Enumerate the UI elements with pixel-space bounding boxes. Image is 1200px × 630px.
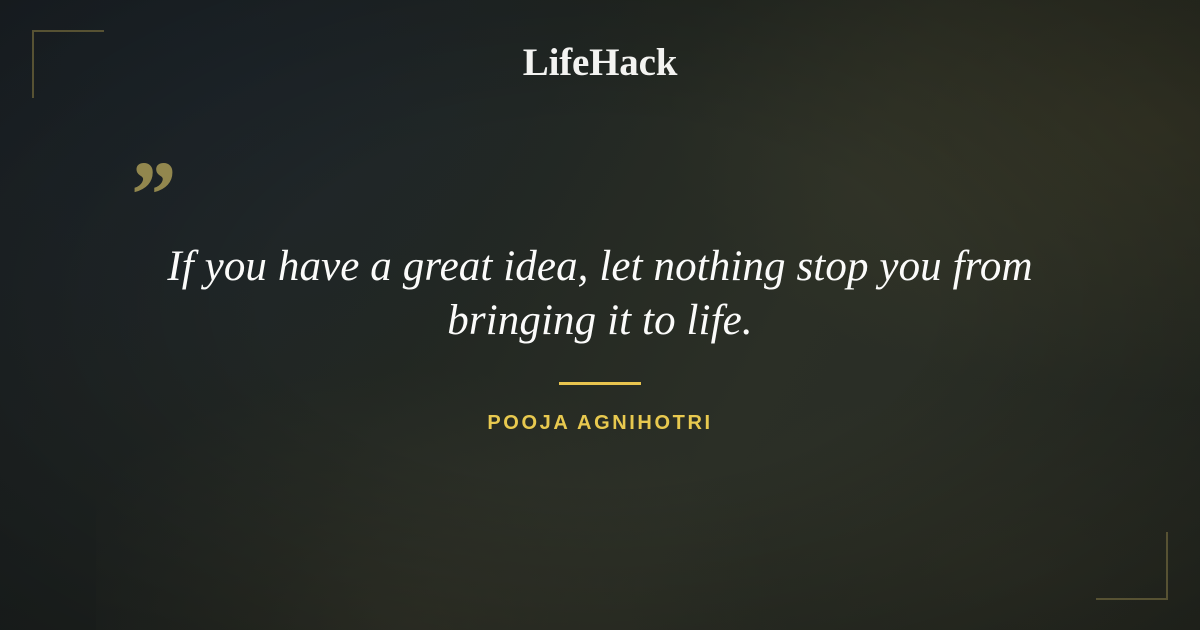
quote-card: LifeHack ” If you have a great idea, let… xyxy=(0,0,1200,630)
lifehack-logo: LifeHack xyxy=(0,40,1200,85)
attribution-block: POOJA AGNIHOTRI xyxy=(0,382,1200,435)
gold-divider xyxy=(559,382,641,385)
quotation-mark-icon: ” xyxy=(126,147,174,243)
quote-text: If you have a great idea, let nothing st… xyxy=(95,240,1105,348)
quote-author: POOJA AGNIHOTRI xyxy=(0,412,1200,435)
